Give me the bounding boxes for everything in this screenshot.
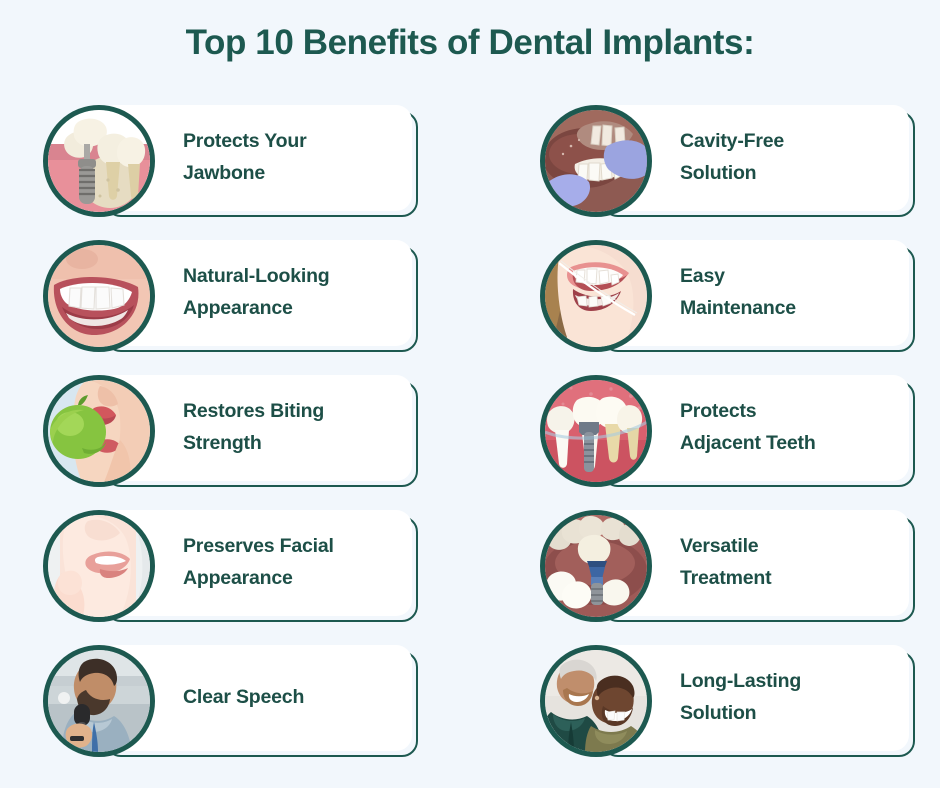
benefits-column-left: Protects Your Jawbone — [43, 105, 463, 780]
benefit-card[interactable]: Clear Speech — [43, 645, 463, 757]
thumb-art — [48, 245, 150, 347]
benefit-label: Protects Adjacent Teeth — [680, 396, 816, 459]
benefit-card[interactable]: Protects Your Jawbone — [43, 105, 463, 217]
benefits-grid: Protects Your Jawbone — [0, 105, 940, 775]
benefit-card[interactable]: Restores Biting Strength — [43, 375, 463, 487]
thumb-art — [545, 245, 647, 347]
senior-couple-smiling-icon — [540, 645, 652, 757]
benefit-label: Preserves Facial Appearance — [183, 531, 334, 594]
benefit-card[interactable]: Easy Maintenance — [540, 240, 940, 352]
woman-touching-chin-icon — [43, 510, 155, 622]
implant-abutment-crown-icon — [540, 510, 652, 622]
thumb-art — [48, 650, 150, 752]
page-title: Top 10 Benefits of Dental Implants: — [0, 22, 940, 64]
flossing-teeth-icon — [540, 240, 652, 352]
smiling-teeth-closeup-icon — [43, 240, 155, 352]
dental-exam-gloved-hands-icon — [540, 105, 652, 217]
thumb-art — [48, 110, 150, 212]
benefit-card[interactable]: Cavity-Free Solution — [540, 105, 940, 217]
benefit-label: Cavity-Free Solution — [680, 126, 784, 189]
thumb-art — [545, 380, 647, 482]
benefit-card[interactable]: Versatile Treatment — [540, 510, 940, 622]
dental-implant-jawbone-icon — [43, 105, 155, 217]
benefit-card[interactable]: Natural-Looking Appearance — [43, 240, 463, 352]
benefit-label: Protects Your Jawbone — [183, 126, 306, 189]
biting-green-apple-icon — [43, 375, 155, 487]
benefit-card[interactable]: Protects Adjacent Teeth — [540, 375, 940, 487]
benefit-label: Versatile Treatment — [680, 531, 771, 594]
thumb-art — [545, 650, 647, 752]
benefit-label: Easy Maintenance — [680, 261, 796, 324]
thumb-art — [48, 380, 150, 482]
man-speaking-microphone-icon — [43, 645, 155, 757]
implant-between-teeth-icon — [540, 375, 652, 487]
benefit-card[interactable]: Long-Lasting Solution — [540, 645, 940, 757]
benefits-column-right: Cavity-Free Solution — [540, 105, 940, 780]
benefit-card[interactable]: Preserves Facial Appearance — [43, 510, 463, 622]
infographic-root: Top 10 Benefits of Dental Implants: Prot… — [0, 0, 940, 788]
benefit-label: Natural-Looking Appearance — [183, 261, 330, 324]
thumb-art — [545, 110, 647, 212]
benefit-label: Restores Biting Strength — [183, 396, 324, 459]
thumb-art — [545, 515, 647, 617]
benefit-label: Long-Lasting Solution — [680, 666, 801, 729]
thumb-art — [48, 515, 150, 617]
benefit-label: Clear Speech — [183, 682, 304, 714]
